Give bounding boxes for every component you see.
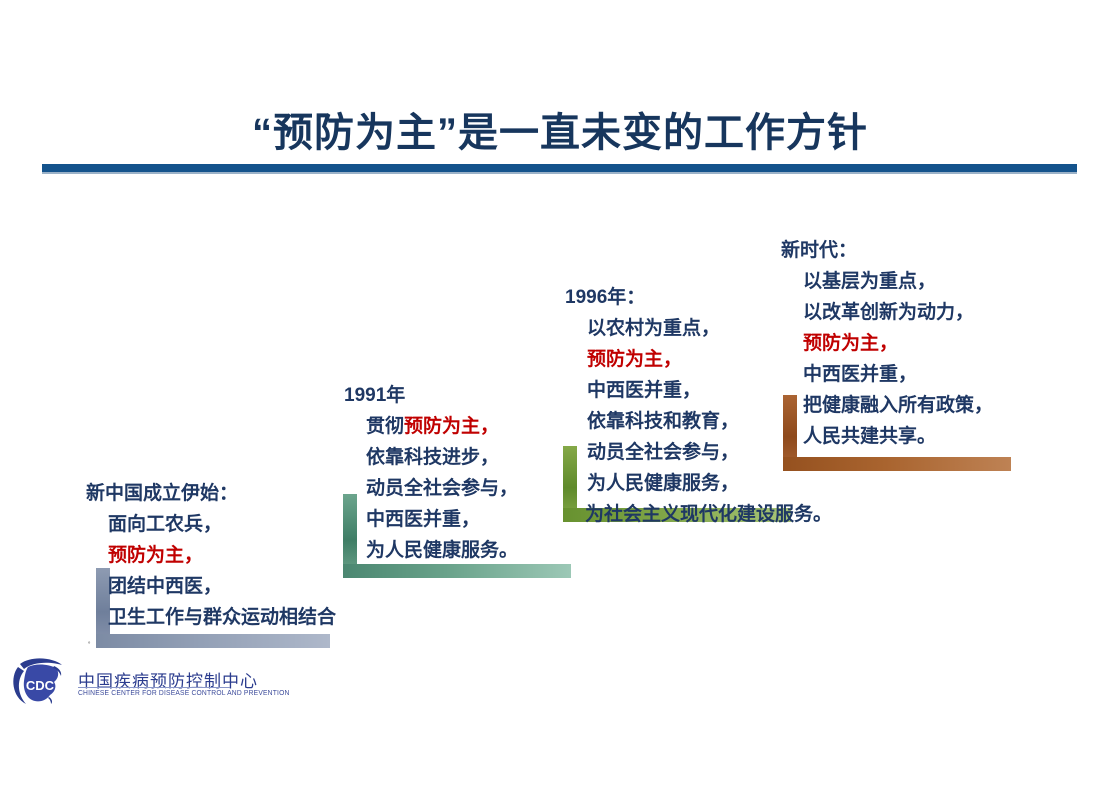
cdc-logo: CDC 中国疾病预防控制中心 CHINESE CENTER FOR DISEAS…: [10, 657, 250, 713]
era-block-4-line-2: 以改革创新为动力，: [781, 297, 993, 328]
era-block-2: 1991年 贯彻预防为主， 依靠科技进步， 动员全社会参与， 中西医并重， 为人…: [344, 380, 518, 566]
era-block-1-line-4: 卫生工作与群众运动相结合: [86, 602, 336, 633]
era-block-1-heading: 新中国成立伊始：: [86, 478, 336, 509]
logo-divider: [78, 687, 230, 688]
bracket-horizontal-bar: [96, 634, 330, 648]
era-block-2-line-1-prefix: 贯彻: [366, 416, 404, 437]
title-divider: [42, 164, 1077, 172]
era-block-2-line-1-highlight: 预防为主，: [404, 416, 499, 437]
era-block-2-heading: 1991年: [344, 380, 518, 411]
era-block-2-line-3: 动员全社会参与，: [344, 473, 518, 504]
logo-name-en: CHINESE CENTER FOR DISEASE CONTROL AND P…: [78, 690, 290, 697]
era-block-1-line-2: 预防为主，: [86, 540, 336, 571]
era-block-1-line-3: 团结中西医，: [86, 571, 336, 602]
era-block-4-line-6: 人民共建共享。: [781, 421, 993, 452]
era-block-3-line-6: 为人民健康服务，: [565, 468, 832, 499]
era-block-4-line-3: 预防为主，: [781, 328, 993, 359]
slide-canvas: “预防为主”是一直未变的工作方针 新中国成立伊始： 面向工农兵， 预防为主， 团…: [0, 0, 1120, 792]
era-block-1-line-1: 面向工农兵，: [86, 509, 336, 540]
era-block-4-line-1: 以基层为重点，: [781, 266, 993, 297]
svg-text:CDC: CDC: [26, 678, 55, 693]
page-title: “预防为主”是一直未变的工作方针: [0, 100, 1120, 158]
era-block-3-line-7: 为社会主义现代化建设服务。: [565, 499, 832, 530]
era-block-2-line-1: 贯彻预防为主，: [344, 411, 518, 442]
era-block-2-line-4: 中西医并重，: [344, 504, 518, 535]
stray-mark: ˚: [88, 641, 91, 650]
cdc-china-logo-icon: CDC: [10, 657, 72, 709]
era-block-4-heading: 新时代：: [781, 235, 993, 266]
era-block-4-line-5: 把健康融入所有政策，: [781, 390, 993, 421]
era-block-2-line-2: 依靠科技进步，: [344, 442, 518, 473]
era-block-1: 新中国成立伊始： 面向工农兵， 预防为主， 团结中西医， 卫生工作与群众运动相结…: [86, 478, 336, 633]
era-block-2-line-5: 为人民健康服务。: [344, 535, 518, 566]
bracket-horizontal-bar: [343, 564, 571, 578]
title-divider-shadow: [42, 172, 1077, 174]
era-block-4-line-4: 中西医并重，: [781, 359, 993, 390]
era-block-4: 新时代： 以基层为重点， 以改革创新为动力， 预防为主， 中西医并重， 把健康融…: [781, 235, 993, 452]
logo-name-cn: 中国疾病预防控制中心: [78, 667, 258, 692]
